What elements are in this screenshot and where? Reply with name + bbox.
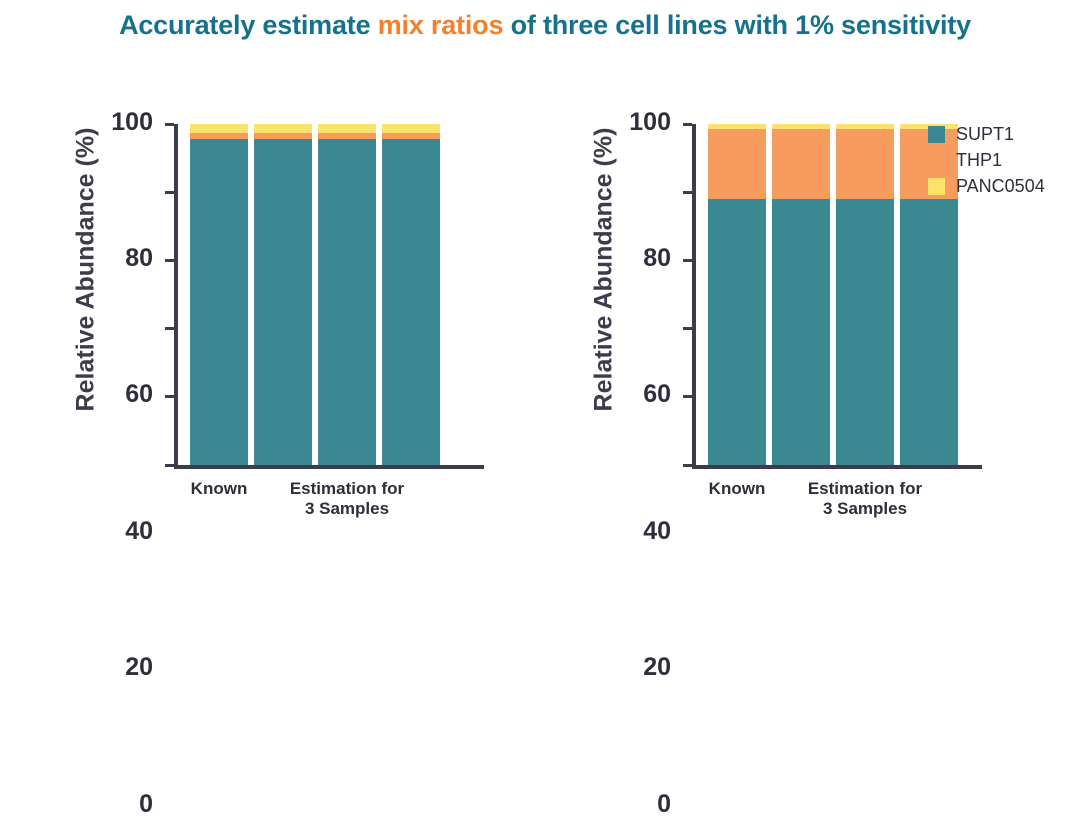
legend-label: PANC0504 xyxy=(956,176,1045,197)
bar-segment-panc0504[interactable] xyxy=(708,124,766,129)
legend-swatch-icon xyxy=(928,152,945,169)
legend-item[interactable]: THP1 xyxy=(928,148,1078,172)
y-tick-label: 0 xyxy=(139,789,153,818)
legend-label: THP1 xyxy=(956,150,1002,171)
bar-segment-panc0504[interactable] xyxy=(382,124,440,133)
bar-segment-thp1[interactable] xyxy=(190,133,248,139)
bar-segment-supt1[interactable] xyxy=(708,199,766,465)
bar-segment-panc0504[interactable] xyxy=(254,124,312,133)
y-tick: 60 xyxy=(683,259,692,262)
y-axis-label: Relative Abundance (%) xyxy=(590,120,619,420)
legend-swatch-icon xyxy=(928,178,945,195)
y-tick-label: 60 xyxy=(125,380,153,409)
legend-item[interactable]: PANC0504 xyxy=(928,174,1078,198)
title-part-1: Accurately estimate xyxy=(119,10,378,40)
x-axis-line xyxy=(174,465,484,469)
legend-label: SUPT1 xyxy=(956,124,1014,145)
x-axis-group-label: Estimation for3 Samples xyxy=(765,479,965,518)
y-tick-label: 80 xyxy=(125,244,153,273)
bar-segment-supt1[interactable] xyxy=(900,199,958,465)
bar-segment-thp1[interactable] xyxy=(318,133,376,139)
bars-container xyxy=(178,124,484,465)
bar-segment-thp1[interactable] xyxy=(708,129,766,199)
y-tick: 60 xyxy=(165,259,174,262)
bar-segment-supt1[interactable] xyxy=(382,139,440,465)
y-tick: 20 xyxy=(683,395,692,398)
y-tick-label: 100 xyxy=(111,107,153,136)
bar-segment-thp1[interactable] xyxy=(254,133,312,139)
title-highlight: mix ratios xyxy=(378,10,504,40)
bar-segment-supt1[interactable] xyxy=(836,199,894,465)
bar-segment-panc0504[interactable] xyxy=(772,124,830,129)
title-part-2: of three cell lines with 1% sensitivity xyxy=(503,10,971,40)
y-axis-label: Relative Abundance (%) xyxy=(72,120,101,420)
y-tick: 40 xyxy=(683,327,692,330)
y-tick: 20 xyxy=(165,395,174,398)
bar-segment-thp1[interactable] xyxy=(772,129,830,199)
y-tick: 80 xyxy=(683,191,692,194)
y-tick: 0 xyxy=(165,464,174,467)
y-tick-label: 80 xyxy=(643,244,671,273)
bar-segment-supt1[interactable] xyxy=(190,139,248,465)
chart-panel-left: Relative Abundance (%) 020406080100 Know… xyxy=(20,100,520,530)
bar-segment-thp1[interactable] xyxy=(382,133,440,139)
y-tick-label: 40 xyxy=(643,517,671,546)
y-tick-label: 20 xyxy=(643,653,671,682)
bar-segment-supt1[interactable] xyxy=(318,139,376,465)
bar-segment-panc0504[interactable] xyxy=(836,124,894,129)
bar-segment-thp1[interactable] xyxy=(836,129,894,199)
legend: SUPT1THP1PANC0504 xyxy=(928,122,1078,200)
y-tick: 40 xyxy=(165,327,174,330)
y-tick: 100 xyxy=(165,123,174,126)
plot-area-left: 020406080100 KnownEstimation for3 Sample… xyxy=(174,124,484,465)
y-tick-label: 60 xyxy=(643,380,671,409)
bar-segment-panc0504[interactable] xyxy=(190,124,248,133)
y-tick: 80 xyxy=(165,191,174,194)
legend-item[interactable]: SUPT1 xyxy=(928,122,1078,146)
chart-panel-right: Relative Abundance (%) 020406080100 Know… xyxy=(500,100,970,530)
page-title: Accurately estimate mix ratios of three … xyxy=(0,10,1090,41)
x-axis-group-label: Estimation for3 Samples xyxy=(247,479,447,518)
y-tick: 100 xyxy=(683,123,692,126)
bar-segment-supt1[interactable] xyxy=(772,199,830,465)
legend-swatch-icon xyxy=(928,126,945,143)
y-tick-label: 100 xyxy=(629,107,671,136)
x-axis-line xyxy=(692,465,982,469)
y-tick-label: 0 xyxy=(657,789,671,818)
bar-segment-supt1[interactable] xyxy=(254,139,312,465)
y-tick: 0 xyxy=(683,464,692,467)
y-tick-label: 40 xyxy=(125,517,153,546)
y-tick-label: 20 xyxy=(125,653,153,682)
bar-segment-panc0504[interactable] xyxy=(318,124,376,133)
